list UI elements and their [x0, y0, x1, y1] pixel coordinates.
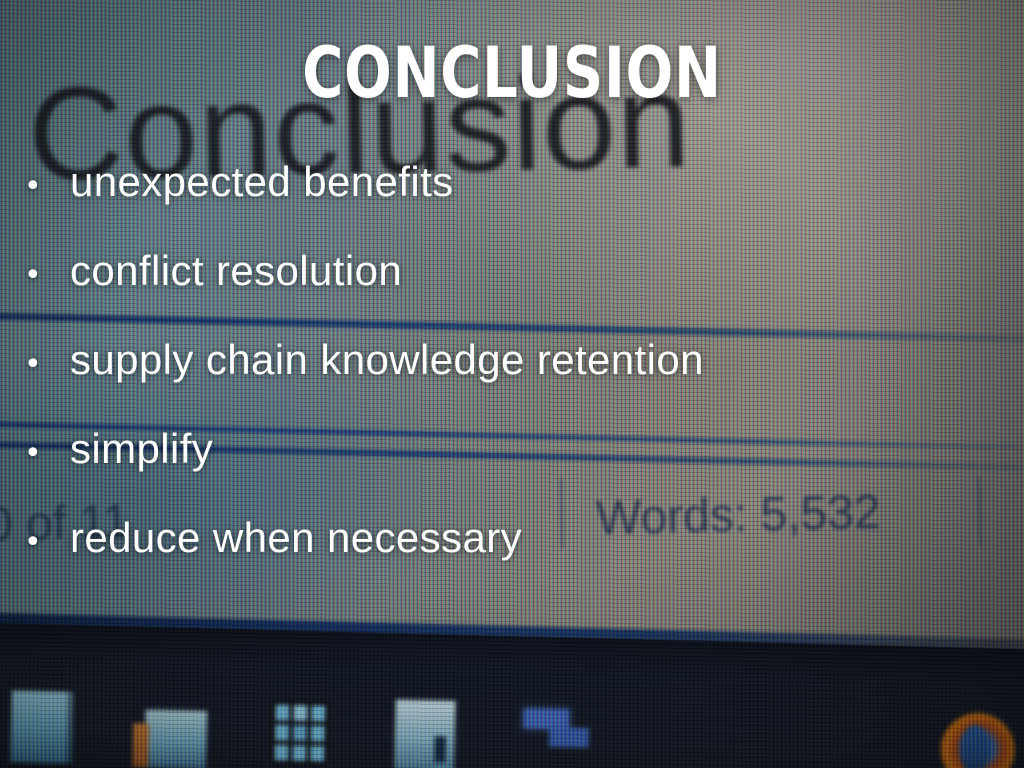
bullet-point-icon: • — [24, 350, 70, 380]
bullet-item: • unexpected benefits — [24, 160, 984, 204]
bullet-point-icon: • — [24, 261, 70, 291]
slide-content: CONCLUSION • unexpected benefits • confl… — [0, 0, 1024, 768]
bullet-text: reduce when necessary — [70, 516, 522, 560]
bullet-point-icon: • — [24, 172, 70, 202]
bullet-text: unexpected benefits — [70, 160, 454, 204]
presentation-slide: Conclusion 0 of 11 Words: 5,532 CONCLUSI… — [0, 0, 1024, 768]
bullet-item: • supply chain knowledge retention — [24, 338, 984, 382]
bullet-point-icon: • — [24, 439, 70, 469]
bullet-text: conflict resolution — [70, 249, 402, 293]
bullet-text: simplify — [70, 427, 213, 471]
bullet-item: • simplify — [24, 427, 984, 471]
bullet-text: supply chain knowledge retention — [70, 338, 704, 382]
bullet-item: • conflict resolution — [24, 249, 984, 293]
slide-title: CONCLUSION — [102, 38, 921, 108]
bullet-point-icon: • — [24, 528, 70, 558]
bullet-item: • reduce when necessary — [24, 516, 984, 560]
bullet-list: • unexpected benefits • conflict resolut… — [24, 160, 984, 605]
